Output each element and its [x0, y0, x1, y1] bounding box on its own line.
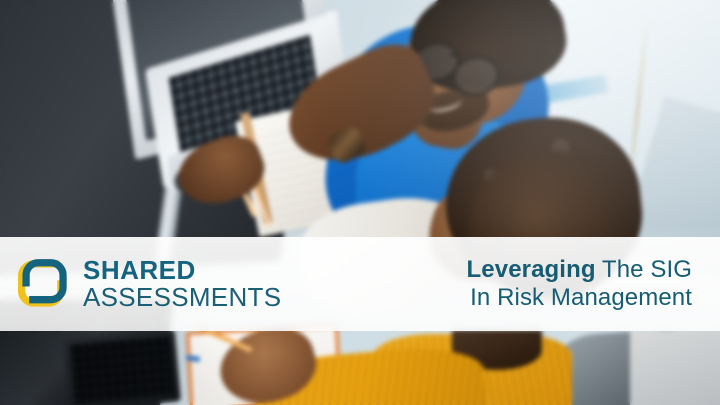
floor	[630, 330, 720, 405]
tagline-emphasis: Leveraging	[467, 256, 596, 283]
tagline-line1-rest: The SIG	[596, 256, 692, 283]
brand-lockup: SHARED ASSESSMENTS	[16, 256, 281, 312]
banner-image: SHARED ASSESSMENTS Leveraging The SIG In…	[0, 0, 720, 405]
keyboard-keys	[70, 336, 175, 404]
tagline-line-2: In Risk Management	[467, 284, 692, 312]
shared-assessments-logo-icon	[16, 256, 72, 312]
tagline-line-1: Leveraging The SIG	[467, 256, 692, 284]
overlay-banner: SHARED ASSESSMENTS Leveraging The SIG In…	[0, 237, 720, 331]
brand-name-line2: ASSESSMENTS	[83, 285, 281, 310]
brand-name-line1: SHARED	[83, 258, 281, 283]
tagline: Leveraging The SIG In Risk Management	[467, 256, 700, 312]
background-photo	[0, 0, 720, 405]
brand-wordmark: SHARED ASSESSMENTS	[83, 258, 281, 310]
